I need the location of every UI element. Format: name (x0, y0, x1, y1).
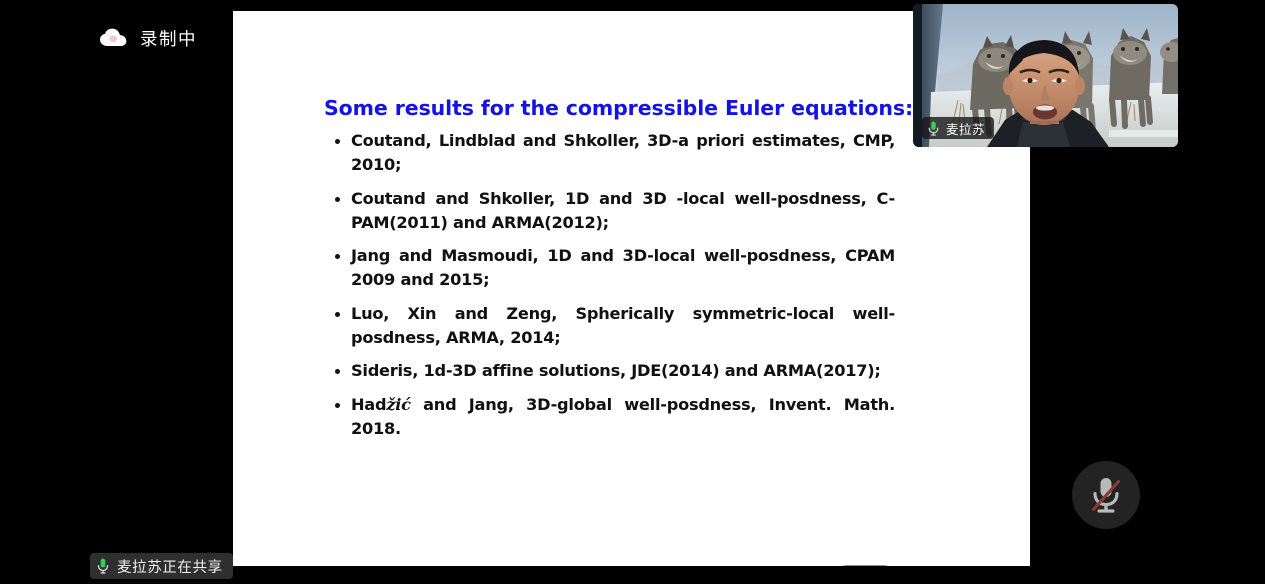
recording-cloud-icon (99, 28, 129, 48)
bullet-text-accented: žić (386, 395, 410, 414)
recording-label: 录制中 (140, 26, 197, 51)
bullet-text-main: Coutand, Lindblad and Shkoller, 3D-a pri… (351, 131, 895, 174)
slide-bullet-list: Coutand, Lindblad and Shkoller, 3D-a pri… (333, 129, 895, 450)
slide-title: Some results for the compressible Euler … (324, 96, 944, 120)
slide-content: Some results for the compressible Euler … (233, 11, 1030, 566)
participant-name: 麦拉苏 (946, 119, 985, 138)
microphone-muted-icon (1089, 475, 1123, 515)
bullet-text-main: Had (351, 395, 386, 414)
bullet-text-main: Sideris, 1d-3D affine solutions, JDE(201… (351, 361, 881, 380)
bullet-text-main: Coutand and Shkoller, 1D and 3D -local w… (351, 189, 895, 232)
bullet-text-rest: and Jang, 3D-global well-posdness, Inven… (351, 395, 895, 438)
list-item: Coutand and Shkoller, 1D and 3D -local w… (333, 187, 895, 236)
page-indicator[interactable]: 1/19 (836, 565, 894, 566)
shared-slide-area[interactable]: Some results for the compressible Euler … (233, 11, 1030, 566)
list-item: Jang and Masmoudi, 1D and 3D-local well-… (333, 244, 895, 293)
sharing-status-badge: 麦拉苏正在共享 (90, 553, 233, 579)
bullet-text-main: Luo, Xin and Zeng, Spherically symmetric… (351, 304, 895, 347)
participant-name-badge: 麦拉苏 (922, 117, 994, 139)
meeting-screen-share-window: 录制中 Some results for the compressible Eu… (0, 0, 1265, 584)
list-item: Sideris, 1d-3D affine solutions, JDE(201… (333, 359, 895, 383)
list-item: Coutand, Lindblad and Shkoller, 3D-a pri… (333, 129, 895, 178)
microphone-on-icon (97, 558, 109, 574)
mute-button[interactable] (1072, 461, 1140, 529)
list-item: Hadžić and Jang, 3D-global well-posdness… (333, 393, 895, 442)
sharing-status-label: 麦拉苏正在共享 (117, 556, 223, 577)
list-item: Luo, Xin and Zeng, Spherically symmetric… (333, 302, 895, 351)
microphone-on-icon (928, 121, 939, 136)
recording-indicator: 录制中 (99, 24, 197, 52)
participant-video-thumbnail[interactable]: 麦拉苏 (913, 4, 1178, 147)
bullet-text-main: Jang and Masmoudi, 1D and 3D-local well-… (351, 246, 895, 289)
